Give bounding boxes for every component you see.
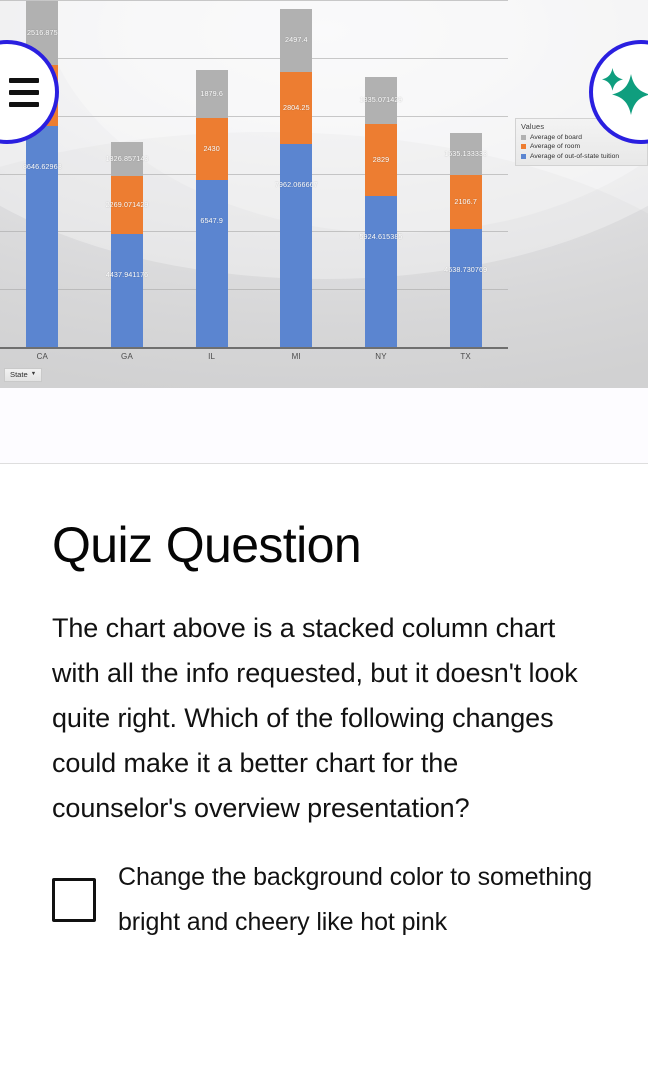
chart-bar-column[interactable]: 1326.8571432269.0714294437.941176: [111, 142, 143, 347]
chart-bar-segment[interactable]: 1879.6: [196, 70, 228, 118]
quiz-option[interactable]: Change the background color to something…: [52, 855, 596, 945]
quiz-section: Quiz Question The chart above is a stack…: [0, 464, 648, 945]
gridline: [0, 0, 508, 1]
chart-bar-segment[interactable]: 2430: [196, 118, 228, 180]
quiz-prompt-text: The chart above is a stacked column char…: [52, 606, 596, 831]
chart-data-label: 2497.4: [285, 35, 308, 44]
legend-item[interactable]: Average of room: [521, 143, 643, 150]
legend-item-label: Average of board: [530, 134, 582, 141]
chart-data-label: 8646.62963: [23, 162, 62, 171]
quiz-option-label: Change the background color to something…: [118, 855, 596, 945]
chart-data-label: 1326.857143: [105, 154, 148, 163]
chart-plot-area: 2516.875158646.629631326.8571432269.0714…: [0, 0, 508, 348]
chart-bar-segment[interactable]: 2804.25: [280, 72, 312, 144]
chart-bar-segment[interactable]: 4437.941176: [111, 234, 143, 347]
quiz-option-checkbox[interactable]: [52, 878, 96, 922]
chart-category-label: GA: [95, 352, 159, 361]
chart-data-label: 2516.875: [27, 28, 58, 37]
legend-swatch-room: [521, 144, 526, 149]
sparkle-ai-icon: [597, 64, 648, 120]
chart-x-axis-line: [0, 347, 508, 349]
page-title: Quiz Question: [52, 520, 596, 570]
legend-swatch-tuition: [521, 154, 526, 159]
chart-category-label: CA: [10, 352, 74, 361]
gridline: [0, 174, 508, 175]
legend-item-label: Average of out-of-state tuition: [530, 153, 619, 160]
gridline: [0, 58, 508, 59]
legend-swatch-board: [521, 135, 526, 140]
chart-category-label: IL: [180, 352, 244, 361]
chart-bar-segment[interactable]: 2497.4: [280, 9, 312, 73]
chart-data-label: 5924.615385: [359, 232, 402, 241]
chart-bar-segment[interactable]: 4638.730769: [450, 229, 482, 347]
chart-bar-segment[interactable]: 7962.066667: [280, 144, 312, 347]
chart-bar-segment[interactable]: 1326.857143: [111, 142, 143, 176]
chart-bar-column[interactable]: 1879.624306547.9: [196, 70, 228, 347]
chart-category-label: NY: [349, 352, 413, 361]
chevron-down-icon: ▼: [31, 372, 36, 378]
legend-item-label: Average of room: [530, 143, 580, 150]
chart-bottom-spacer: [0, 388, 648, 464]
chart-bar-segment[interactable]: 6547.9: [196, 180, 228, 347]
chart-data-label: 1879.6: [200, 89, 223, 98]
chart-data-label: 4437.941176: [106, 270, 149, 279]
chart-category-label: TX: [434, 352, 498, 361]
state-filter-button[interactable]: State ▼: [4, 368, 42, 382]
chart-bar-segment[interactable]: 2106.7: [450, 175, 482, 229]
gridline: [0, 289, 508, 290]
gridline: [0, 231, 508, 232]
chart-panel: 2516.875158646.629631326.8571432269.0714…: [0, 0, 648, 388]
chart-data-label: 4638.730769: [444, 265, 487, 274]
chart-bar-segment[interactable]: 2269.071429: [111, 176, 143, 234]
chart-data-label: 2829: [373, 155, 389, 164]
chart-bar-segment[interactable]: 8646.62963: [26, 126, 58, 347]
state-filter-label: State: [10, 370, 28, 379]
chart-bar-segment[interactable]: 1635.133333: [450, 133, 482, 175]
chart-bar-column[interactable]: 2497.42804.257962.066667: [280, 9, 312, 347]
quiz-options-list: Change the background color to something…: [52, 855, 596, 945]
hamburger-menu-icon: [9, 78, 39, 107]
chart-data-label: 2430: [203, 144, 219, 153]
chart-bar-segment[interactable]: 1835.071429: [365, 77, 397, 124]
chart-data-label: 1835.071429: [359, 95, 402, 104]
chart-bar-column[interactable]: 1835.07142928295924.615385: [365, 77, 397, 347]
chart-data-label: 2804.25: [283, 103, 310, 112]
chart-data-label: 6547.9: [200, 216, 223, 225]
gridline: [0, 116, 508, 117]
chart-category-label: MI: [264, 352, 328, 361]
legend-item[interactable]: Average of out-of-state tuition: [521, 153, 643, 160]
chart-data-label: 7962.066667: [275, 180, 318, 189]
chart-bar-segment[interactable]: 2829: [365, 124, 397, 196]
chart-bar-column[interactable]: 1635.1333332106.74638.730769: [450, 133, 482, 347]
chart-data-label: 2269.071429: [105, 200, 148, 209]
chart-data-label: 2106.7: [454, 197, 477, 206]
chart-bar-segment[interactable]: 5924.615385: [365, 196, 397, 347]
chart-data-label: 1635.133333: [444, 149, 487, 158]
